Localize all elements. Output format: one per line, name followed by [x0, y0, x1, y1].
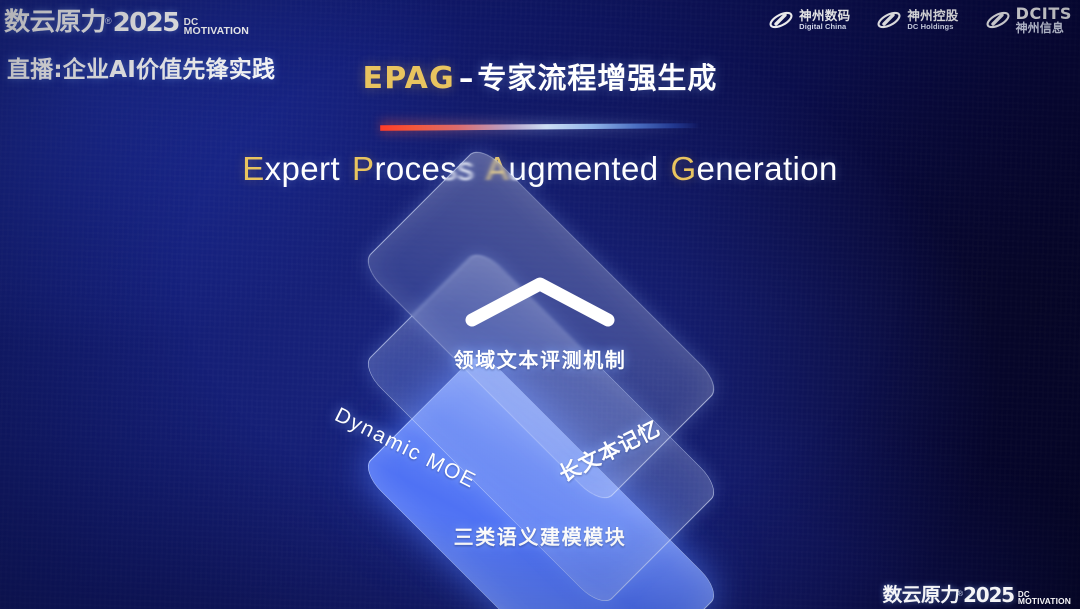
title-dash: – [455, 61, 478, 95]
slide-canvas: 数云原力 ® 2025 DC MOTIVATION 直播:企业AI价值先锋实践 … [0, 0, 1080, 609]
partner-name-cn: 神州数码 [799, 10, 850, 23]
partner-name-en: DCITS [1016, 6, 1072, 22]
subtitle-word-generation: Generation [670, 150, 837, 187]
subtitle-rest-expert: xpert [265, 150, 340, 187]
partner-name-en: Digital China [799, 23, 850, 31]
title-acronym: EPAG [363, 61, 455, 96]
footer-brand-year: 2025 [963, 583, 1014, 607]
brand-registered-mark: ® [105, 16, 112, 26]
subtitle-initial-p: P [352, 150, 374, 187]
partner-label: DCITS 神州信息 [1016, 6, 1072, 35]
brand-logo: 数云原力 ® 2025 DC MOTIVATION [6, 2, 248, 38]
footer-brand-dc-motivation: DC MOTIVATION [1018, 591, 1071, 606]
partner-logo-dcits: DCITS 神州信息 [985, 6, 1072, 35]
subtitle-rest-augmented: ugmented [508, 150, 658, 187]
partner-label: 神州控股 DC Holdings [907, 10, 958, 30]
partner-logo-digital-china: 神州数码 Digital China [768, 10, 850, 30]
subtitle-initial-e: E [242, 150, 264, 187]
subtitle-initial-g: G [670, 150, 696, 187]
partner-logo-group: 神州数码 Digital China 神州控股 DC Holdings [768, 6, 1072, 35]
brand-dc-motivation: DC MOTIVATION [184, 18, 249, 37]
subtitle-expansion: ExpertProcessAugmentedGeneration [0, 150, 1080, 188]
subtitle-word-expert: Expert [242, 150, 340, 187]
footer-brand-name-cn: 数云原力 [882, 580, 959, 607]
page-title: EPAG–专家流程增强生成 [0, 55, 1080, 97]
swoosh-logo-icon [876, 10, 902, 30]
swoosh-logo-icon [768, 10, 794, 30]
partner-name-en: DC Holdings [907, 23, 958, 31]
title-divider [380, 120, 700, 134]
brand-name-cn: 数云原力 [4, 2, 106, 38]
partner-name-cn: 神州信息 [1016, 22, 1072, 34]
brand-year: 2025 [113, 8, 179, 38]
partner-name-cn: 神州控股 [907, 10, 958, 23]
title-chinese: 专家流程增强生成 [477, 61, 717, 95]
partner-logo-dc-holdings: 神州控股 DC Holdings [876, 10, 958, 30]
footer-brand-watermark: 数云原力 ® 2025 DC MOTIVATION [884, 580, 1070, 607]
swoosh-logo-icon [985, 10, 1011, 30]
layer-stack-diagram: 领域文本评测机制 Dynamic MOE 长文本记忆 三类语义建模模块 [260, 232, 820, 592]
partner-label: 神州数码 Digital China [799, 10, 850, 30]
subtitle-rest-generation: eneration [697, 150, 838, 187]
brand-dc-line2: MOTIVATION [184, 27, 249, 37]
footer-brand-dc-line2: MOTIVATION [1018, 598, 1071, 606]
